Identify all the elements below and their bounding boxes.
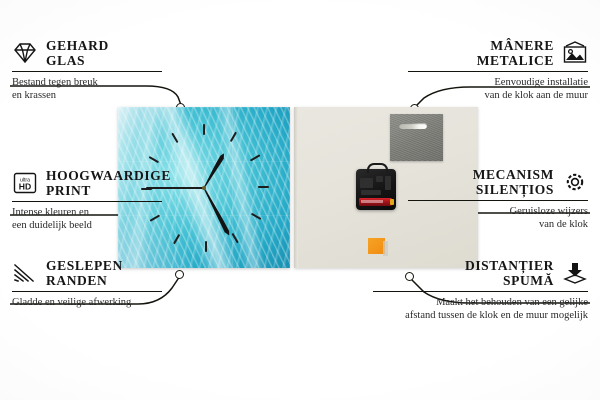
hanger-slot [399, 123, 427, 129]
feature-title: MÂNERE METALICE [477, 38, 554, 68]
feature-title: GESLEPEN RANDEN [46, 258, 123, 288]
svg-text:HD: HD [19, 182, 31, 192]
feature-mecanism-silentios: MECANISM SILENȚIOS Geruisloze wijzers va… [408, 167, 588, 231]
feature-rule [373, 291, 588, 292]
panel-left-edge [294, 107, 298, 268]
mechanism-detail-c [385, 176, 391, 190]
feature-subtitle: Geruisloze wijzers van de klok [408, 205, 588, 231]
feature-title: GEHARD GLAS [46, 38, 109, 68]
feature-subtitle: Intense kleuren en een duidelijk beeld [12, 206, 162, 232]
metal-hanger-plate [390, 114, 443, 161]
feature-subtitle: Maakt het behouden van een gelijke afsta… [373, 296, 588, 322]
mechanism-detail-d [361, 190, 381, 195]
feature-distantier-spuma: DISTANȚIER SPUMĂ Maakt het behouden van … [373, 258, 588, 322]
feature-title: MECANISM SILENȚIOS [473, 167, 554, 197]
feature-gehard-glas: GEHARD GLAS Bestand tegen breuk en krass… [12, 38, 162, 102]
arrow-down-pad-icon [562, 261, 588, 285]
feature-subtitle: Gladde en veilige afwerking [12, 296, 162, 309]
picture-frame-icon [562, 41, 588, 65]
battery-label [361, 200, 383, 203]
feature-subtitle: Eenvoudige installatie van de klok aan d… [408, 76, 588, 102]
ultra-hd-icon: ultra HD [12, 171, 38, 195]
foam-spacer [368, 238, 385, 254]
battery [359, 198, 392, 206]
feature-manere-metalice: MÂNERE METALICE Eenvoudige installatie v… [408, 38, 588, 102]
beveled-edges-icon [12, 261, 38, 285]
feature-rule [408, 71, 588, 72]
clock-center-hub [202, 186, 206, 190]
gear-icon [562, 170, 588, 194]
feature-geslepen-randen: GESLEPEN RANDEN Gladde en veilige afwerk… [12, 258, 162, 309]
foam-spacer-shadow [383, 241, 388, 256]
feature-rule [408, 200, 588, 201]
feature-hoogwaardige-print: ultra HD HOOGWAARDIGE PRINT Intense kleu… [12, 168, 162, 232]
clock-mechanism-box [356, 169, 396, 210]
feature-rule [12, 291, 162, 292]
feature-subtitle: Bestand tegen breuk en krassen [12, 76, 162, 102]
feature-title: DISTANȚIER SPUMĂ [465, 258, 554, 288]
feature-title: HOOGWAARDIGE PRINT [46, 168, 171, 198]
mechanism-detail-b [376, 176, 383, 182]
feature-rule [12, 71, 162, 72]
hanging-loop [367, 163, 388, 173]
feature-rule [12, 201, 162, 202]
battery-terminal [390, 199, 394, 205]
diamond-icon [12, 41, 38, 65]
mechanism-detail-a [360, 178, 373, 188]
infographic-canvas: GEHARD GLAS Bestand tegen breuk en krass… [0, 0, 600, 400]
connector-dot-geslepen-randen [175, 270, 184, 279]
